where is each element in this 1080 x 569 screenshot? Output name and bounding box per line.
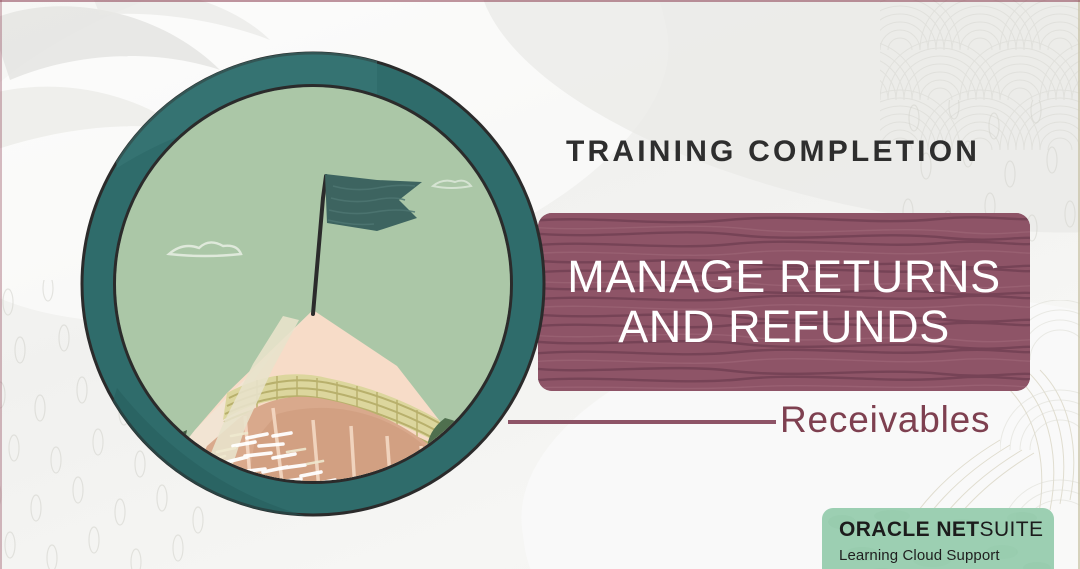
- banner-title-block: MANAGE RETURNS AND REFUNDS: [538, 213, 1030, 391]
- banner-title-line-1: MANAGE RETURNS: [567, 252, 1000, 302]
- subtitle-row: Receivables: [508, 394, 1064, 446]
- logo-inner: ORACLE NETSUITE Learning Cloud Support: [822, 508, 1054, 564]
- page-eyebrow-heading: TRAINING COMPLETION: [566, 135, 980, 169]
- training-completion-slide: MANAGE RETURNS AND REFUNDS: [0, 0, 1080, 569]
- logo-suite-text: SUITE: [980, 518, 1044, 541]
- left-edge-rule: [0, 0, 2, 569]
- subtitle-text: Receivables: [780, 399, 990, 441]
- top-edge-rule: [0, 0, 1080, 2]
- logo-oracle-text: ORACLE: [839, 518, 930, 541]
- subtitle-rule: [508, 420, 776, 424]
- logo-tagline: Learning Cloud Support: [839, 547, 1054, 564]
- oracle-netsuite-logo: ORACLE NETSUITE Learning Cloud Support: [822, 508, 1054, 569]
- banner-title-line-2: AND REFUNDS: [618, 302, 950, 352]
- logo-net-text: NET: [936, 518, 979, 541]
- logo-wordmark: ORACLE NETSUITE: [839, 519, 1054, 540]
- mountain-badge-illustration: [77, 48, 549, 520]
- course-title-banner: MANAGE RETURNS AND REFUNDS: [538, 213, 1030, 391]
